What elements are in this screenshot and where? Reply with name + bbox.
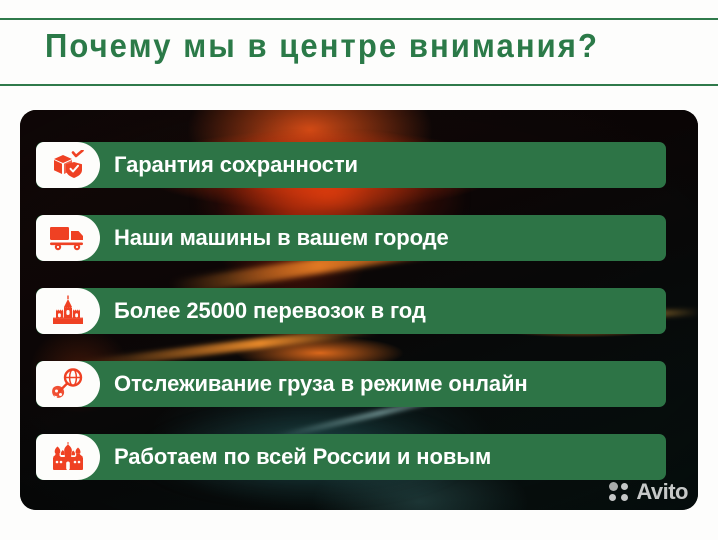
page-root: Почему мы в центре внимания? Гарантия со… — [0, 0, 718, 540]
package-shield-check-icon — [51, 150, 85, 180]
feature-icon-badge — [36, 142, 100, 188]
delivery-truck-icon — [50, 225, 86, 251]
feature-list: Гарантия сохранности — [20, 110, 698, 510]
kremlin-tower-icon — [51, 295, 85, 327]
feature-label: Отслеживание груза в режиме онлайн — [114, 361, 528, 407]
header-rule-top — [0, 18, 718, 20]
avito-watermark: Avito — [609, 482, 688, 502]
feature-icon-badge — [36, 288, 100, 334]
feature-card: Гарантия сохранности — [20, 110, 698, 510]
saint-basil-cathedral-icon — [50, 442, 86, 472]
avito-watermark-text: Avito — [636, 482, 688, 502]
globe-magnifier-icon — [51, 368, 85, 400]
feature-icon-badge — [36, 361, 100, 407]
header-rule-bottom — [0, 84, 718, 86]
feature-label: Гарантия сохранности — [114, 142, 358, 188]
avito-dots-icon — [609, 482, 631, 502]
page-header: Почему мы в центре внимания? — [0, 18, 718, 86]
feature-icon-badge — [36, 215, 100, 261]
feature-label: Более 25000 перевозок в год — [114, 288, 426, 334]
feature-icon-badge — [36, 434, 100, 480]
feature-label: Наши машины в вашем городе — [114, 215, 449, 261]
feature-label: Работаем по всей России и новым — [114, 434, 491, 480]
page-title: Почему мы в центре внимания? — [45, 27, 599, 65]
